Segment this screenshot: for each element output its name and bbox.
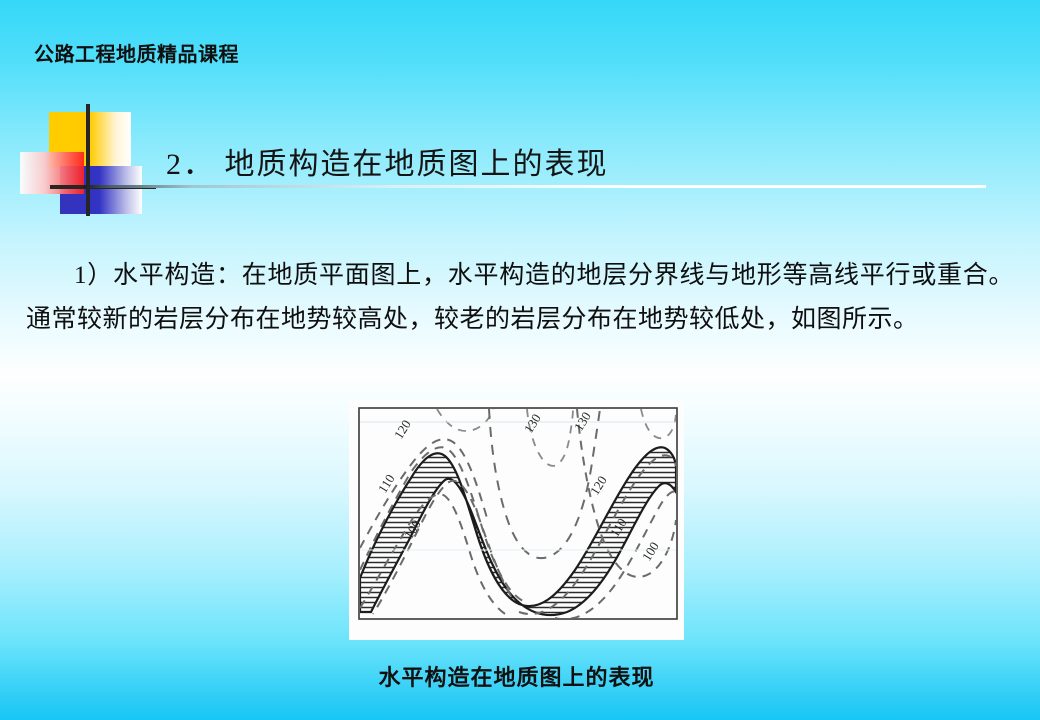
decorative-logo-block xyxy=(20,104,156,216)
page-title: 2． 地质构造在地质图上的表现 xyxy=(166,139,609,183)
geological-map-figure: 120 110 100 130 130 120 110 100 xyxy=(349,400,684,640)
figure-caption: 水平构造在地质图上的表现 xyxy=(349,660,684,692)
paragraph-text: 1）水平构造：在地质平面图上，水平构造的地层分界线与地形等高线平行或重合。通常较… xyxy=(26,262,1014,333)
title-underline-rule xyxy=(84,185,986,188)
deco-vertical-rule xyxy=(86,104,90,216)
slide-canvas: 公路工程地质精品课程 2． 地质构造在地质图上的表现 1）水平构造：在地质平面图… xyxy=(0,0,1040,720)
slide-header-title: 公路工程地质精品课程 xyxy=(34,38,239,67)
geological-map-svg: 120 110 100 130 130 120 110 100 xyxy=(349,400,684,640)
body-paragraph: 1）水平构造：在地质平面图上，水平构造的地层分界线与地形等高线平行或重合。通常较… xyxy=(26,254,1014,342)
